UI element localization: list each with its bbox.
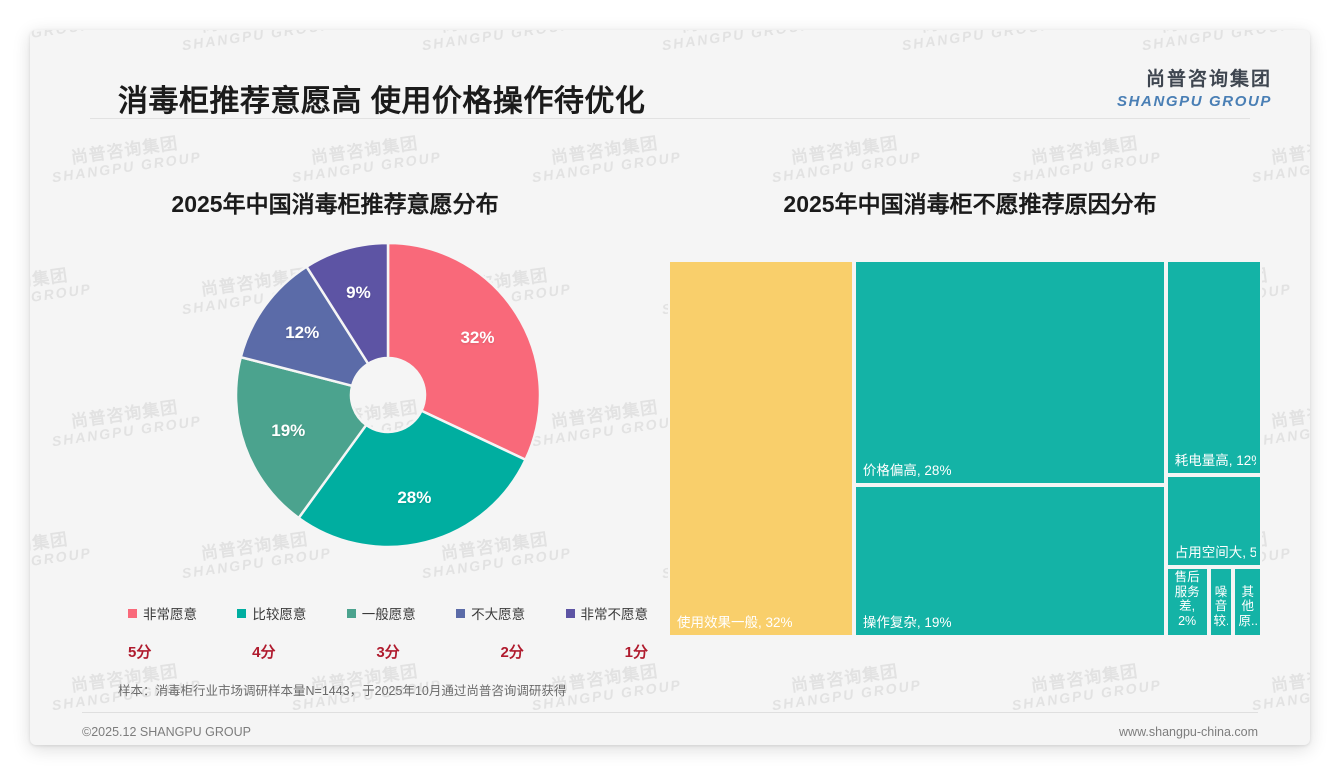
treemap-cell[interactable]: 价格偏高, 28% — [854, 260, 1166, 485]
legend-item-4[interactable]: 非常不愿意 — [566, 603, 649, 623]
legend-item-3[interactable]: 不大愿意 — [456, 603, 525, 623]
watermark-text: 尚普咨询集团SHANGPU GROUP — [1248, 132, 1310, 185]
treemap-cell-label: 使用效果一般, 32% — [677, 615, 848, 631]
legend-score-2: 3分 — [376, 641, 399, 662]
watermark-text: 尚普咨询集团SHANGPU GROUP — [1248, 660, 1310, 713]
legend-label: 一般愿意 — [362, 603, 416, 623]
watermark-text: 尚普咨询集团SHANGPU GROUP — [288, 132, 442, 185]
treemap-chart-title: 2025年中国消毒柜不愿推荐原因分布 — [650, 185, 1290, 219]
legend-score-0: 5分 — [128, 641, 151, 662]
treemap-cell[interactable]: 使用效果一般, 32% — [668, 260, 854, 637]
treemap-cell-label: 操作复杂, 19% — [863, 615, 1160, 631]
donut-score-row: 5分4分3分2分1分 — [128, 638, 648, 664]
donut-legend: 非常愿意比较愿意一般愿意不大愿意非常不愿意 — [128, 600, 648, 626]
footer-website[interactable]: www.shangpu-china.com — [1119, 725, 1258, 739]
donut-chart-title: 2025年中国消毒柜推荐意愿分布 — [30, 185, 640, 219]
slide-card: 尚普咨询集团SHANGPU GROUP尚普咨询集团SHANGPU GROUP尚普… — [30, 30, 1310, 745]
treemap-cell-label: 噪音较... — [1214, 585, 1229, 629]
watermark-text: 尚普咨询集团SHANGPU GROUP — [1008, 132, 1162, 185]
watermark-text: 尚普咨询集团SHANGPU GROUP — [30, 528, 93, 581]
legend-score-4: 1分 — [625, 641, 648, 662]
watermark-text: 尚普咨询集团SHANGPU GROUP — [30, 264, 93, 317]
treemap-cell[interactable]: 占用空间大, 5% — [1166, 475, 1262, 567]
donut-svg — [228, 235, 548, 555]
watermark-text: 尚普咨询集团SHANGPU GROUP — [48, 132, 202, 185]
treemap-cell-label: 价格偏高, 28% — [863, 463, 1160, 479]
treemap-cell[interactable]: 操作复杂, 19% — [854, 485, 1166, 637]
legend-label: 非常愿意 — [143, 603, 197, 623]
logo-english-text: SHANGPU GROUP — [1117, 93, 1272, 110]
treemap-cell[interactable]: 其他原... — [1233, 567, 1262, 637]
treemap-cell-label: 售后服务差, 2% — [1171, 570, 1204, 629]
legend-item-0[interactable]: 非常愿意 — [128, 603, 197, 623]
treemap-cell[interactable]: 售后服务差, 2% — [1166, 567, 1209, 637]
slide-header: 消毒柜推荐意愿高 使用价格操作待优化 尚普咨询集团 SHANGPU GROUP — [30, 30, 1310, 120]
logo-chinese-text: 尚普咨询集团 — [1117, 64, 1272, 91]
legend-score-1: 4分 — [252, 641, 275, 662]
legend-swatch-icon — [237, 609, 246, 618]
legend-label: 不大愿意 — [471, 603, 525, 623]
watermark-text: 尚普咨询集团SHANGPU GROUP — [768, 132, 922, 185]
legend-swatch-icon — [456, 609, 465, 618]
legend-label: 比较愿意 — [252, 603, 306, 623]
treemap-cell[interactable]: 耗电量高, 12% — [1166, 260, 1262, 475]
page-title: 消毒柜推荐意愿高 使用价格操作待优化 — [118, 76, 645, 120]
treemap-cell-label: 占用空间大, 5% — [1175, 545, 1256, 561]
sample-footnote: 样本：消毒柜行业市场调研样本量N=1443，于2025年10月通过尚普咨询调研获… — [118, 680, 566, 699]
treemap-chart: 使用效果一般, 32%价格偏高, 28%操作复杂, 19%耗电量高, 12%占用… — [668, 260, 1262, 637]
donut-chart: 32%28%19%12%9% — [128, 225, 648, 565]
treemap-cell[interactable]: 噪音较... — [1209, 567, 1234, 637]
treemap-cell-label: 耗电量高, 12% — [1175, 453, 1256, 469]
legend-swatch-icon — [566, 609, 575, 618]
legend-item-1[interactable]: 比较愿意 — [237, 603, 306, 623]
legend-label: 非常不愿意 — [581, 603, 649, 623]
footer-divider — [82, 712, 1258, 713]
legend-score-3: 2分 — [500, 641, 523, 662]
legend-swatch-icon — [128, 609, 137, 618]
footer-copyright: ©2025.12 SHANGPU GROUP — [82, 725, 251, 739]
slide-footer: ©2025.12 SHANGPU GROUP www.shangpu-china… — [82, 720, 1258, 744]
treemap-cell-label: 其他原... — [1238, 585, 1257, 629]
company-logo: 尚普咨询集团 SHANGPU GROUP — [1117, 64, 1272, 110]
watermark-text: 尚普咨询集团SHANGPU GROUP — [1008, 660, 1162, 713]
watermark-text: 尚普咨询集团SHANGPU GROUP — [528, 132, 682, 185]
legend-swatch-icon — [347, 609, 356, 618]
legend-item-2[interactable]: 一般愿意 — [347, 603, 416, 623]
watermark-text: 尚普咨询集团SHANGPU GROUP — [768, 660, 922, 713]
